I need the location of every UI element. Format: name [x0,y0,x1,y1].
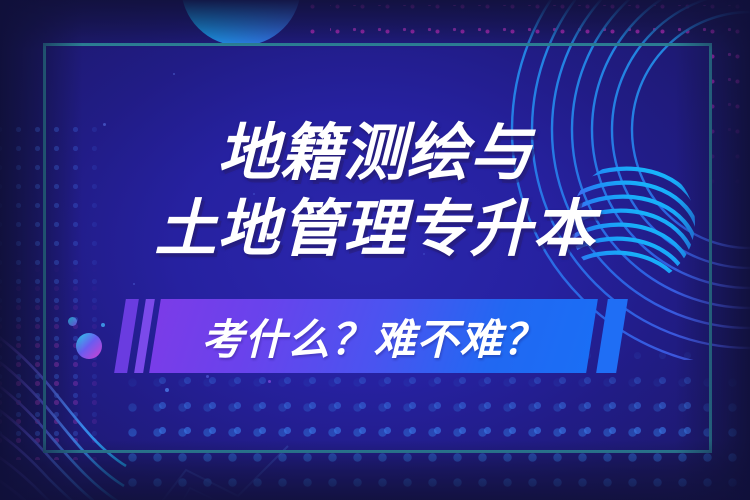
page-title: 地籍测绘与 土地管理专升本 [0,122,750,263]
poster-banner: 地籍测绘与 土地管理专升本 考什么？难不难？ [0,0,750,500]
cyan-circle-icon [181,0,301,46]
banner-accent-bar-3 [596,299,628,373]
title-line-1: 地籍测绘与 [0,122,750,186]
accent-dot-2-icon [165,388,169,392]
subtitle-banner: 考什么？难不难？ [0,297,750,375]
polygon-outline-icon [120,410,320,500]
accent-dot-4-icon [206,375,209,378]
accent-dot-3-icon [268,380,271,383]
subtitle-text: 考什么？难不难？ [155,299,592,373]
title-line-2: 土地管理专升本 [0,198,750,262]
